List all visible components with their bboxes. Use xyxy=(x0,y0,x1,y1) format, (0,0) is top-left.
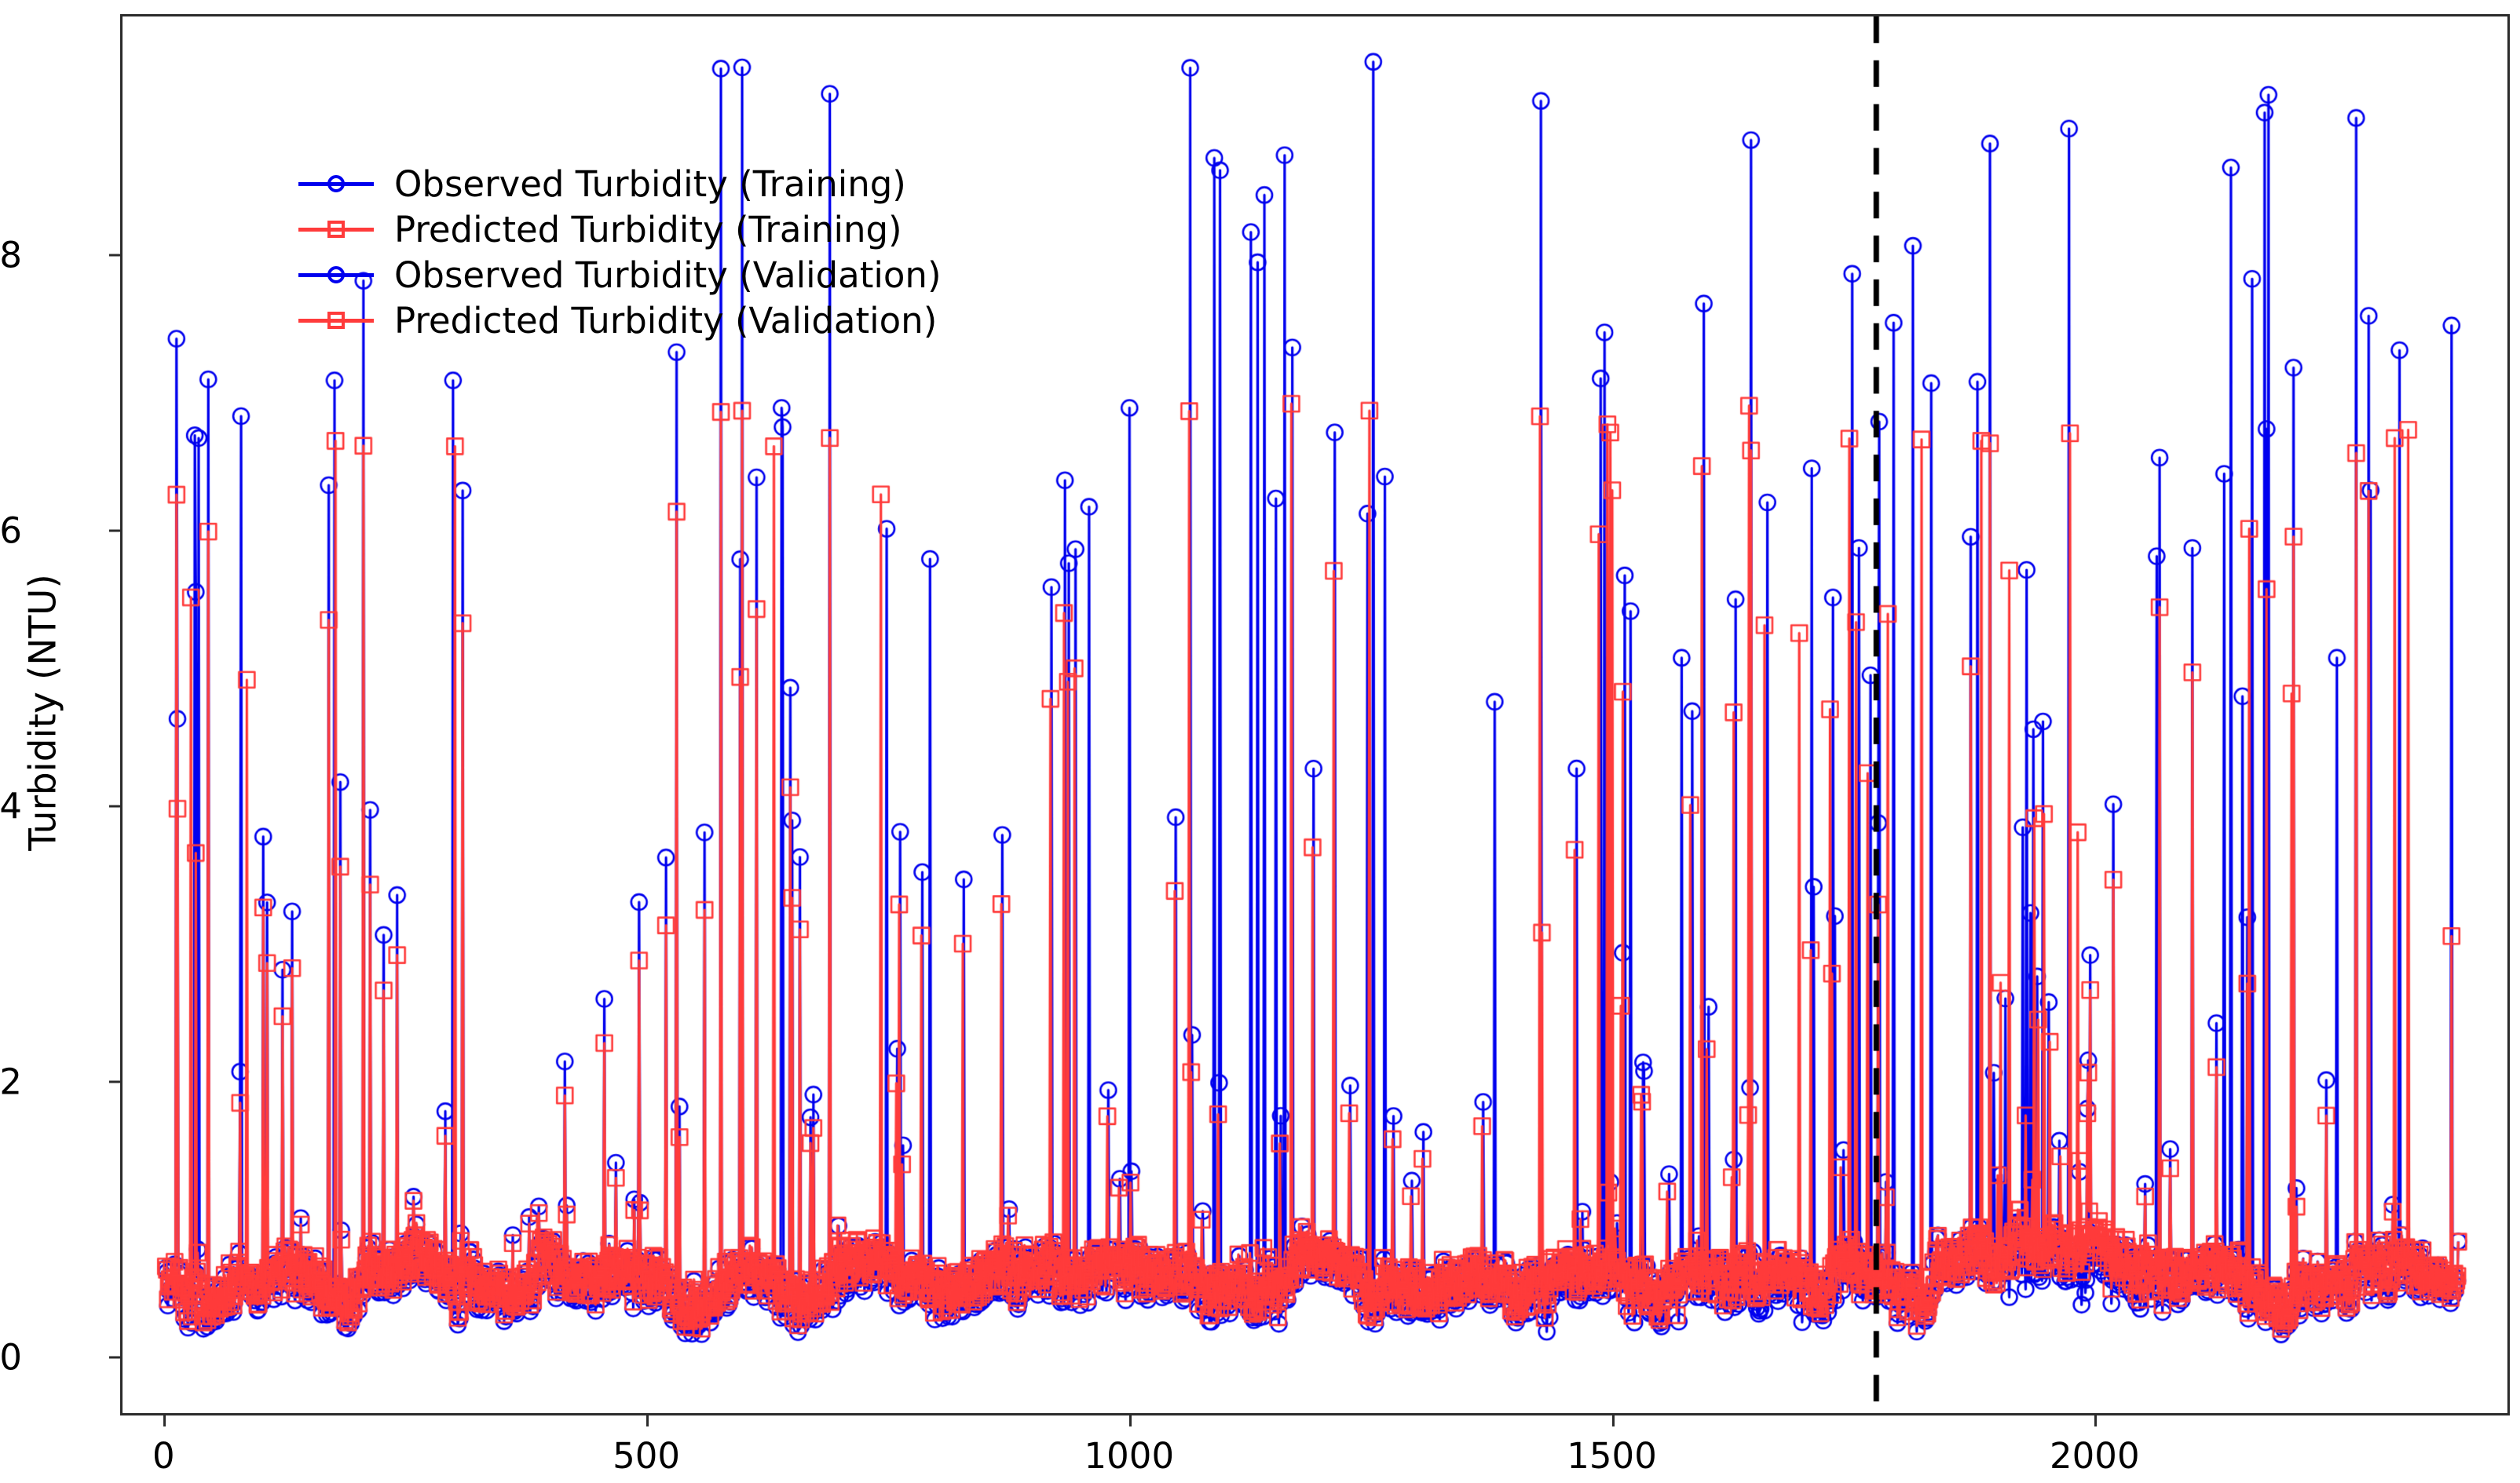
legend-item-label: Observed Turbidity (Validation) xyxy=(394,258,942,293)
y-tick-label: 4 xyxy=(0,786,22,827)
x-tick-mark xyxy=(2094,1415,2097,1426)
legend-item[interactable]: Observed Turbidity (Training) xyxy=(298,161,942,206)
legend-item[interactable]: Predicted Turbidity (Training) xyxy=(298,206,942,252)
y-tick-mark xyxy=(109,1081,120,1083)
square-marker-icon xyxy=(298,214,374,245)
x-tick-mark xyxy=(646,1415,649,1426)
x-tick-mark xyxy=(1129,1415,1132,1426)
x-tick-label: 500 xyxy=(544,1435,748,1477)
legend-item[interactable]: Predicted Turbidity (Validation) xyxy=(298,298,942,343)
y-tick-mark xyxy=(109,530,120,532)
legend-item[interactable]: Observed Turbidity (Validation) xyxy=(298,252,942,298)
x-tick-label: 2000 xyxy=(1992,1435,2196,1477)
x-tick-label: 1000 xyxy=(1027,1435,1231,1477)
legend-item-label: Predicted Turbidity (Validation) xyxy=(394,303,937,338)
y-tick-label: 2 xyxy=(0,1061,22,1103)
x-tick-mark xyxy=(1612,1415,1615,1426)
figure-container: Turbidity (NTU) Training Validation Obse… xyxy=(0,0,2520,1483)
legend-item-label: Observed Turbidity (Training) xyxy=(394,166,906,202)
legend-item-label: Predicted Turbidity (Training) xyxy=(394,212,902,247)
y-tick-label: 8 xyxy=(0,235,22,276)
x-tick-label: 1500 xyxy=(1510,1435,1714,1477)
legend: Observed Turbidity (Training)Predicted T… xyxy=(298,161,942,343)
y-axis-label: Turbidity (NTU) xyxy=(22,85,65,1341)
y-tick-mark xyxy=(109,254,120,257)
y-tick-mark xyxy=(109,1357,120,1359)
y-tick-label: 6 xyxy=(0,510,22,552)
square-marker-icon xyxy=(298,305,374,336)
x-tick-label: 0 xyxy=(61,1435,265,1477)
x-tick-mark xyxy=(163,1415,166,1426)
circle-marker-icon xyxy=(298,259,374,290)
circle-marker-icon xyxy=(298,168,374,199)
y-tick-label: 0 xyxy=(0,1337,22,1379)
y-tick-mark xyxy=(109,805,120,808)
